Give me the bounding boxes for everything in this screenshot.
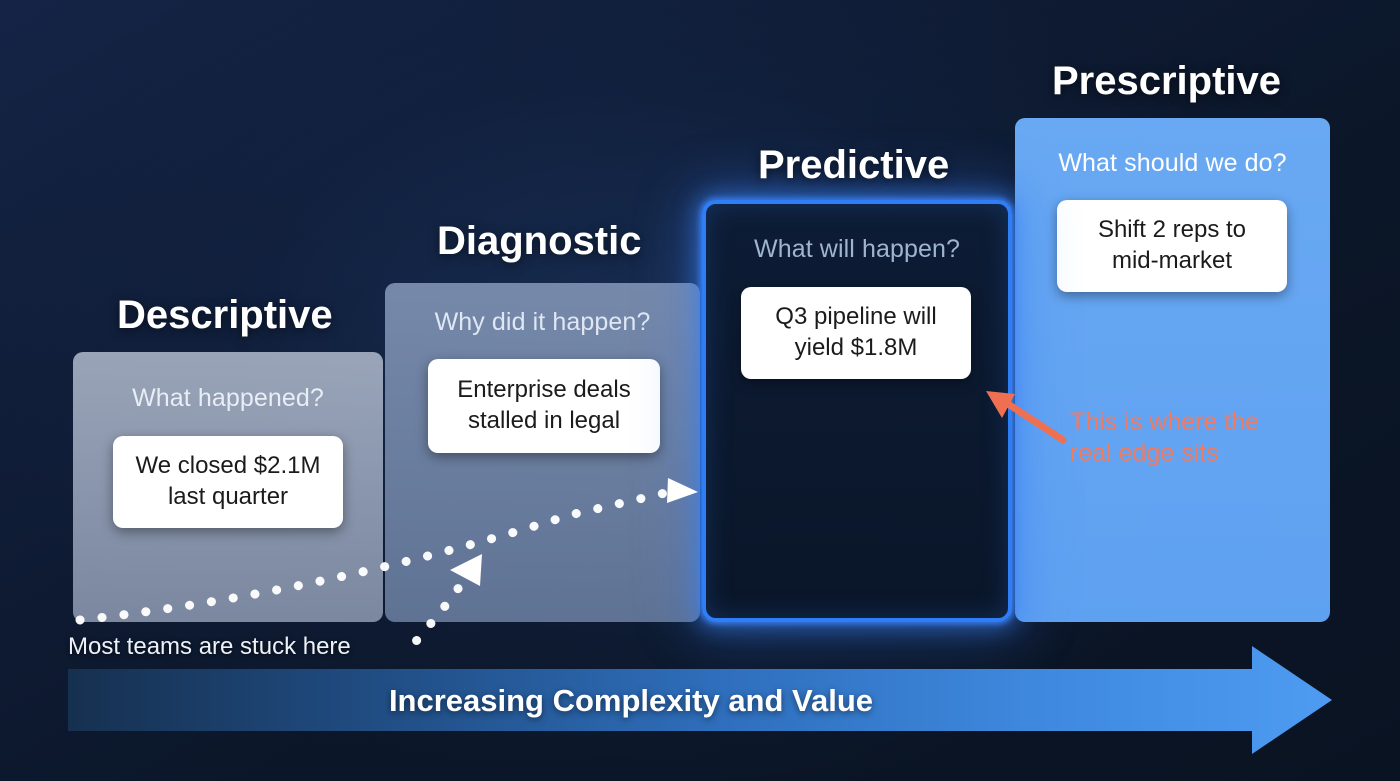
stage-question-diagnostic: Why did it happen? [385, 308, 700, 337]
stage-example-descriptive: We closed $2.1M last quarter [113, 436, 343, 528]
stage-title-descriptive: Descriptive [117, 293, 333, 338]
stage-example-prescriptive: Shift 2 reps to mid-market [1057, 200, 1287, 292]
stage-question-descriptive: What happened? [73, 384, 383, 413]
stage-example-predictive: Q3 pipeline will yield $1.8M [741, 287, 971, 379]
stage-column-diagnostic[interactable]: Why did it happen? Enterprise deals stal… [385, 283, 700, 622]
edge-callout-text: This is where the real edge sits [1070, 407, 1259, 468]
stage-column-predictive[interactable]: What will happen? Q3 pipeline will yield… [702, 200, 1012, 622]
stage-title-diagnostic: Diagnostic [437, 219, 641, 264]
stuck-here-label: Most teams are stuck here [68, 633, 351, 661]
stage-question-predictive: What will happen? [706, 235, 1008, 264]
diagram-canvas: What happened? We closed $2.1M last quar… [0, 0, 1400, 781]
stage-title-predictive: Predictive [758, 143, 949, 188]
edge-callout-line-1: This is where the [1070, 407, 1259, 438]
edge-callout-line-2: real edge sits [1070, 438, 1259, 469]
stage-title-prescriptive: Prescriptive [1052, 59, 1281, 104]
stage-column-descriptive[interactable]: What happened? We closed $2.1M last quar… [73, 352, 383, 622]
stage-question-prescriptive: What should we do? [1015, 149, 1330, 178]
stage-column-prescriptive[interactable]: What should we do? Shift 2 reps to mid-m… [1015, 118, 1330, 622]
stage-example-diagnostic: Enterprise deals stalled in legal [428, 359, 660, 453]
complexity-axis-label: Increasing Complexity and Value [0, 666, 1262, 735]
